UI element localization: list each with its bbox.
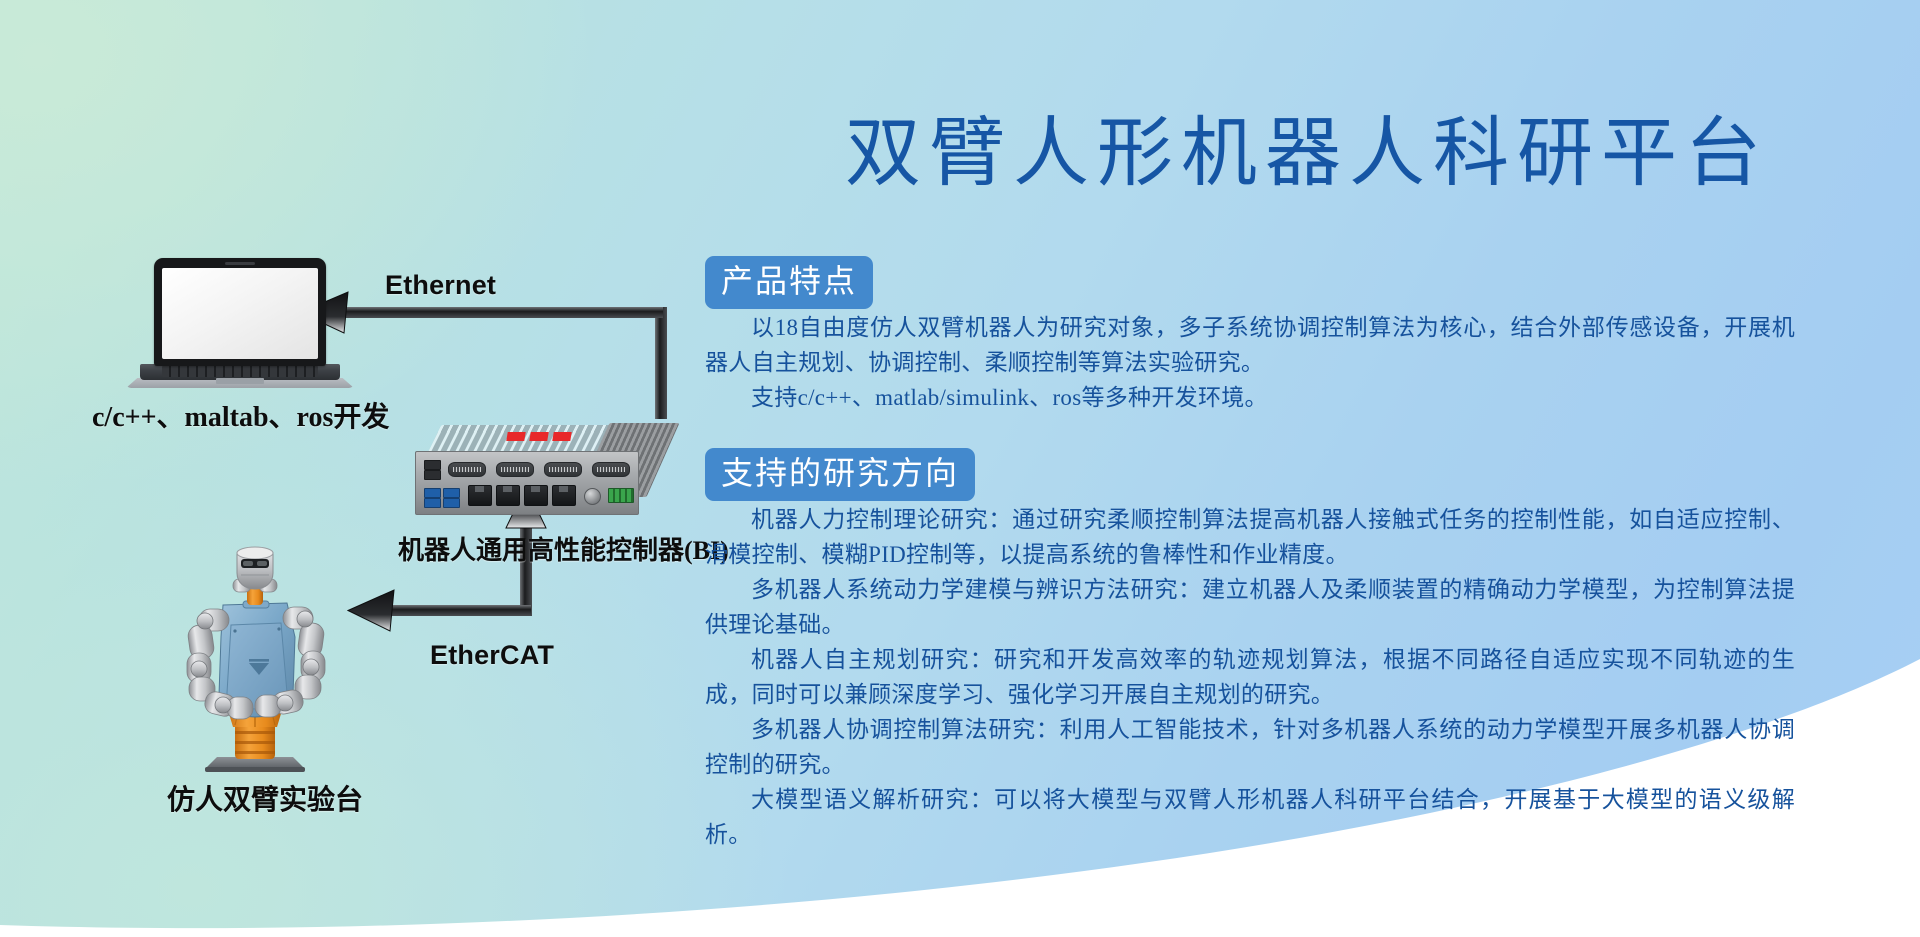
controller-port-cluster — [422, 458, 632, 510]
usb3-port-icon — [424, 488, 441, 498]
direction-paragraph: 机器人力控制理论研究：通过研究柔顺控制算法提高机器人接触式任务的控制性能，如自适… — [705, 502, 1795, 572]
feature-paragraph: 支持c/c++、matlab/simulink、ros等多种开发环境。 — [705, 380, 1795, 415]
serial-port-icon — [544, 462, 582, 477]
usb3-port-icon — [443, 498, 460, 508]
system-architecture-diagram: Ethernet EtherCAT c/c++、maltab、ros开发 机器人… — [0, 0, 700, 937]
serial-port-icon — [496, 462, 534, 477]
content-column: 双臂人形机器人科研平台 产品特点 以18自由度仿人双臂机器人为研究对象，多子系统… — [700, 0, 1920, 937]
ethernet-jack-icon — [496, 485, 520, 506]
controller-red-stripe — [505, 432, 587, 441]
ethercat-link-label: EtherCAT — [430, 640, 554, 671]
laptop-illustration — [140, 258, 340, 388]
humanoid-robot-illustration — [155, 545, 355, 775]
section-badge-label: 产品特点 — [705, 256, 873, 309]
robot-caption: 仿人双臂实验台 — [167, 778, 363, 818]
ethernet-jack-icon — [552, 485, 576, 506]
direction-paragraph: 大模型语义解析研究：可以将大模型与双臂人形机器人科研平台结合，开展基于大模型的语… — [705, 782, 1795, 852]
serial-port-icon — [448, 462, 486, 477]
laptop-caption: c/c++、maltab、ros开发 — [92, 395, 389, 435]
ethernet-jack-icon — [468, 485, 492, 506]
laptop-keyboard — [162, 366, 318, 377]
features-paragraphs: 以18自由度仿人双臂机器人为研究对象，多子系统协调控制算法为核心，结合外部传感设… — [705, 310, 1795, 415]
feature-paragraph: 以18自由度仿人双臂机器人为研究对象，多子系统协调控制算法为核心，结合外部传感设… — [705, 310, 1795, 380]
usb-port-icon — [424, 460, 441, 470]
controller-front-panel — [415, 451, 639, 515]
robot-head — [237, 547, 273, 589]
laptop-lid — [154, 258, 326, 366]
terminal-block-icon — [608, 488, 634, 503]
page-title: 双臂人形机器人科研平台 — [845, 116, 1769, 192]
section-badge-label: 支持的研究方向 — [705, 448, 975, 501]
ethernet-jack-icon — [524, 485, 548, 506]
section-header-directions: 支持的研究方向 — [705, 448, 975, 501]
power-connector-icon — [584, 488, 601, 505]
section-header-features: 产品特点 — [705, 256, 873, 309]
poster-root: Ethernet EtherCAT c/c++、maltab、ros开发 机器人… — [0, 0, 1920, 937]
ethernet-link-label: Ethernet — [385, 270, 496, 301]
directions-paragraphs: 机器人力控制理论研究：通过研究柔顺控制算法提高机器人接触式任务的控制性能，如自适… — [705, 502, 1795, 852]
usb3-port-icon — [424, 498, 441, 508]
laptop-trackpad — [216, 378, 264, 384]
serial-port-icon — [592, 462, 630, 477]
laptop-screen — [162, 268, 318, 359]
direction-paragraph: 多机器人协调控制算法研究：利用人工智能技术，针对多机器人系统的动力学模型开展多机… — [705, 712, 1795, 782]
robot-base — [205, 757, 305, 772]
usb-port-icon — [424, 470, 441, 480]
usb3-port-icon — [443, 488, 460, 498]
direction-paragraph: 机器人自主规划研究：研究和开发高效率的轨迹规划算法，根据不同路径自适应实现不同轨… — [705, 642, 1795, 712]
industrial-controller-illustration — [415, 425, 665, 530]
controller-caption: 机器人通用高性能控制器(BI) — [398, 530, 729, 567]
direction-paragraph: 多机器人系统动力学建模与辨识方法研究：建立机器人及柔顺装置的精确动力学模型，为控… — [705, 572, 1795, 642]
